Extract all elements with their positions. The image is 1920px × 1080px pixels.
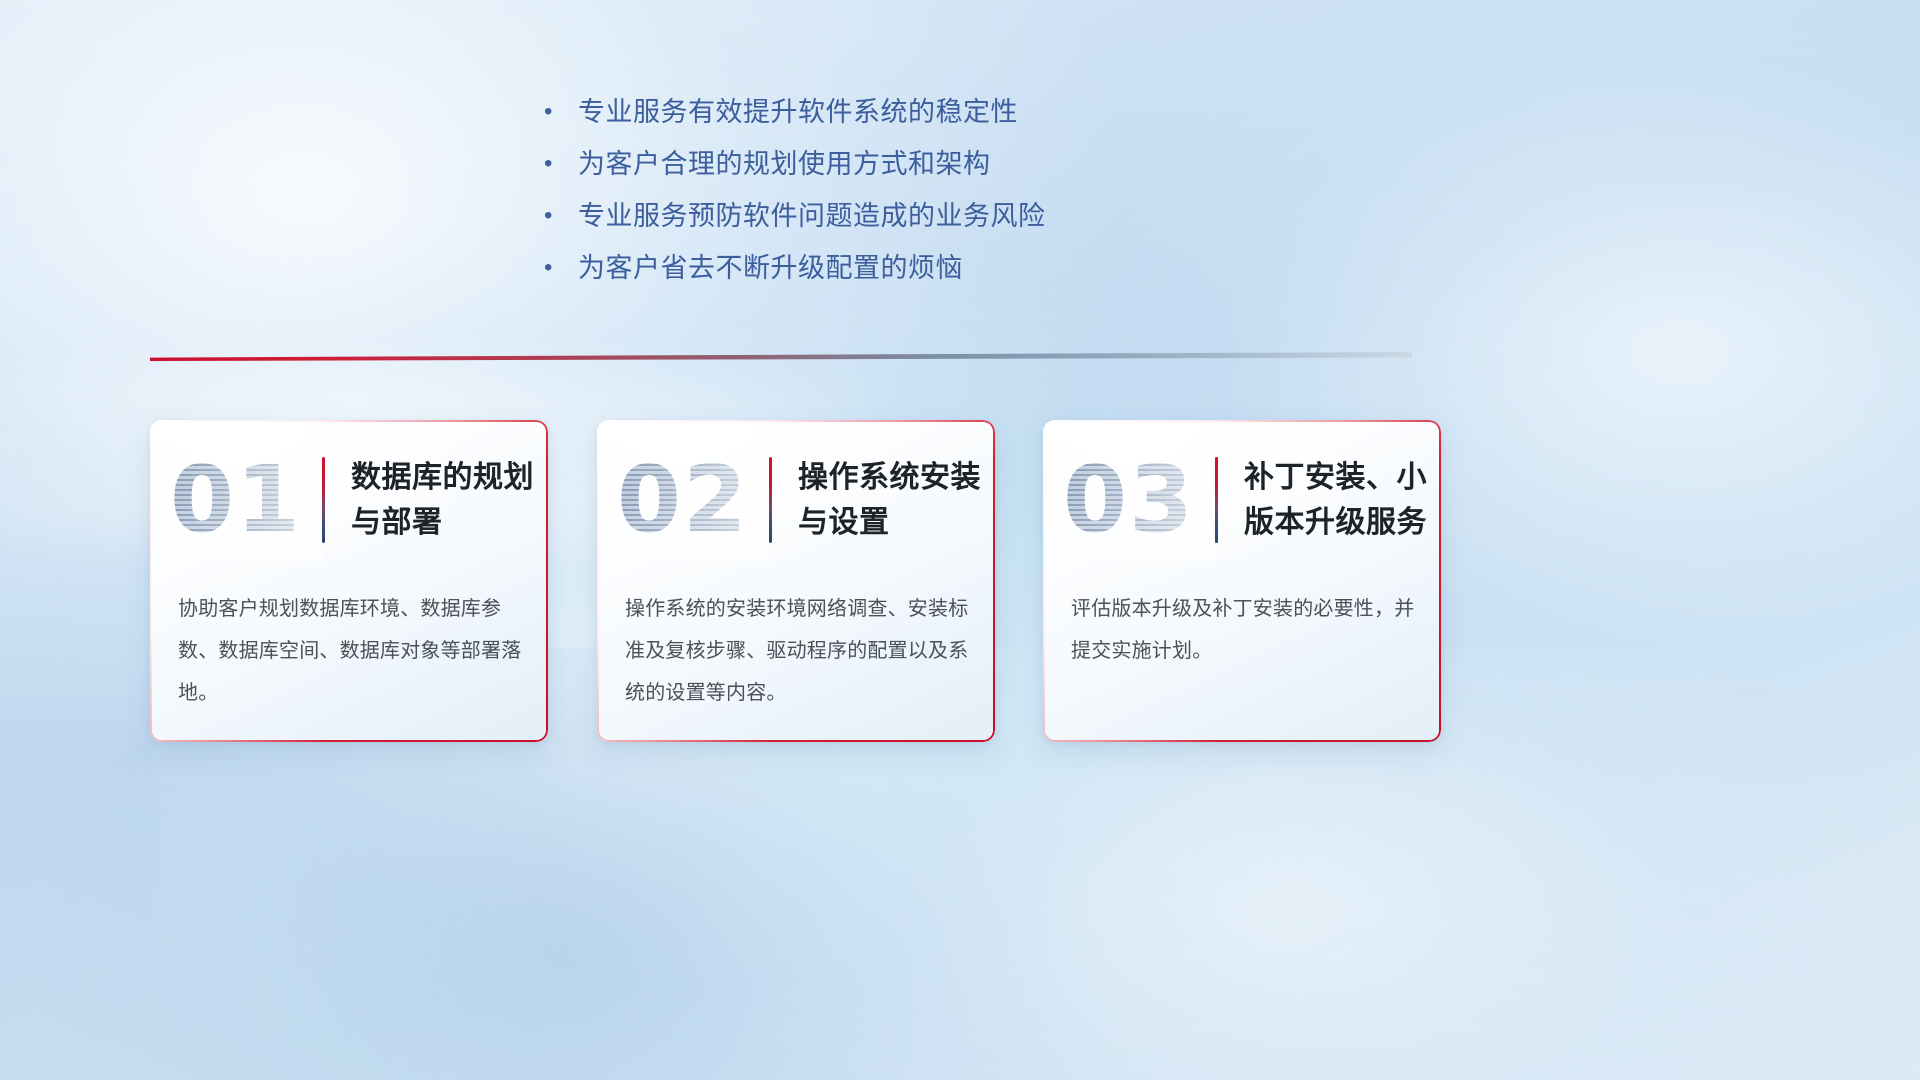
service-card-01[interactable]: 01 数据库的规划 与部署 协助客户规划数据库环境、数据库参数、数据库空间、数据… — [150, 420, 548, 742]
card-body-text: 评估版本升级及补丁安装的必要性，并提交实施计划。 — [1071, 588, 1417, 672]
section-divider-gradient-bar — [150, 352, 1412, 361]
bullet-text-1: 专业服务有效提升软件系统的稳定性 — [578, 92, 1018, 132]
benefits-bullet-list: • 专业服务有效提升软件系统的稳定性 • 为客户合理的规划使用方式和架构 • 专… — [540, 92, 1180, 300]
card-number-01: 01 — [150, 439, 322, 561]
bullet-item-3: • 专业服务预防软件问题造成的业务风险 — [540, 196, 1180, 248]
card-title-line-1: 数据库的规划 — [351, 455, 538, 500]
bullet-dot-icon: • — [540, 144, 578, 184]
bullet-text-2: 为客户合理的规划使用方式和架构 — [578, 144, 991, 184]
card-number-02: 02 — [597, 439, 769, 561]
section-divider — [150, 352, 1412, 361]
card-title-line-2: 与设置 — [798, 500, 985, 545]
card-title-divider-bar — [322, 457, 325, 543]
card-title: 数据库的规划 与部署 — [351, 455, 548, 545]
bullet-dot-icon: • — [540, 248, 578, 288]
card-title-divider-bar — [769, 457, 772, 543]
service-card-03[interactable]: 03 补丁安装、小 版本升级服务 评估版本升级及补丁安装的必要性，并提交实施计划… — [1043, 420, 1441, 742]
card-body-text: 操作系统的安装环境网络调查、安装标准及复核步骤、驱动程序的配置以及系统的设置等内… — [625, 588, 971, 714]
bullet-dot-icon: • — [540, 92, 578, 132]
bullet-item-2: • 为客户合理的规划使用方式和架构 — [540, 144, 1180, 196]
bullet-text-4: 为客户省去不断升级配置的烦恼 — [578, 248, 963, 288]
bullet-item-4: • 为客户省去不断升级配置的烦恼 — [540, 248, 1180, 300]
card-header: 02 操作系统安装 与设置 — [597, 436, 995, 564]
card-header: 01 数据库的规划 与部署 — [150, 436, 548, 564]
bullet-item-1: • 专业服务有效提升软件系统的稳定性 — [540, 92, 1180, 144]
card-title-line-1: 补丁安装、小 — [1244, 455, 1431, 500]
service-card-02[interactable]: 02 操作系统安装 与设置 操作系统的安装环境网络调查、安装标准及复核步骤、驱动… — [597, 420, 995, 742]
card-title-line-2: 与部署 — [351, 500, 538, 545]
card-title: 操作系统安装 与设置 — [798, 455, 995, 545]
bullet-dot-icon: • — [540, 196, 578, 236]
card-header: 03 补丁安装、小 版本升级服务 — [1043, 436, 1441, 564]
card-title-line-2: 版本升级服务 — [1244, 500, 1431, 545]
service-card-row: 01 数据库的规划 与部署 协助客户规划数据库环境、数据库参数、数据库空间、数据… — [150, 420, 1470, 745]
card-body-text: 协助客户规划数据库环境、数据库参数、数据库空间、数据库对象等部署落地。 — [178, 588, 524, 714]
card-title-line-1: 操作系统安装 — [798, 455, 985, 500]
bullet-text-3: 专业服务预防软件问题造成的业务风险 — [578, 196, 1046, 236]
card-title: 补丁安装、小 版本升级服务 — [1244, 455, 1441, 545]
card-number-03: 03 — [1043, 439, 1215, 561]
card-title-divider-bar — [1215, 457, 1218, 543]
